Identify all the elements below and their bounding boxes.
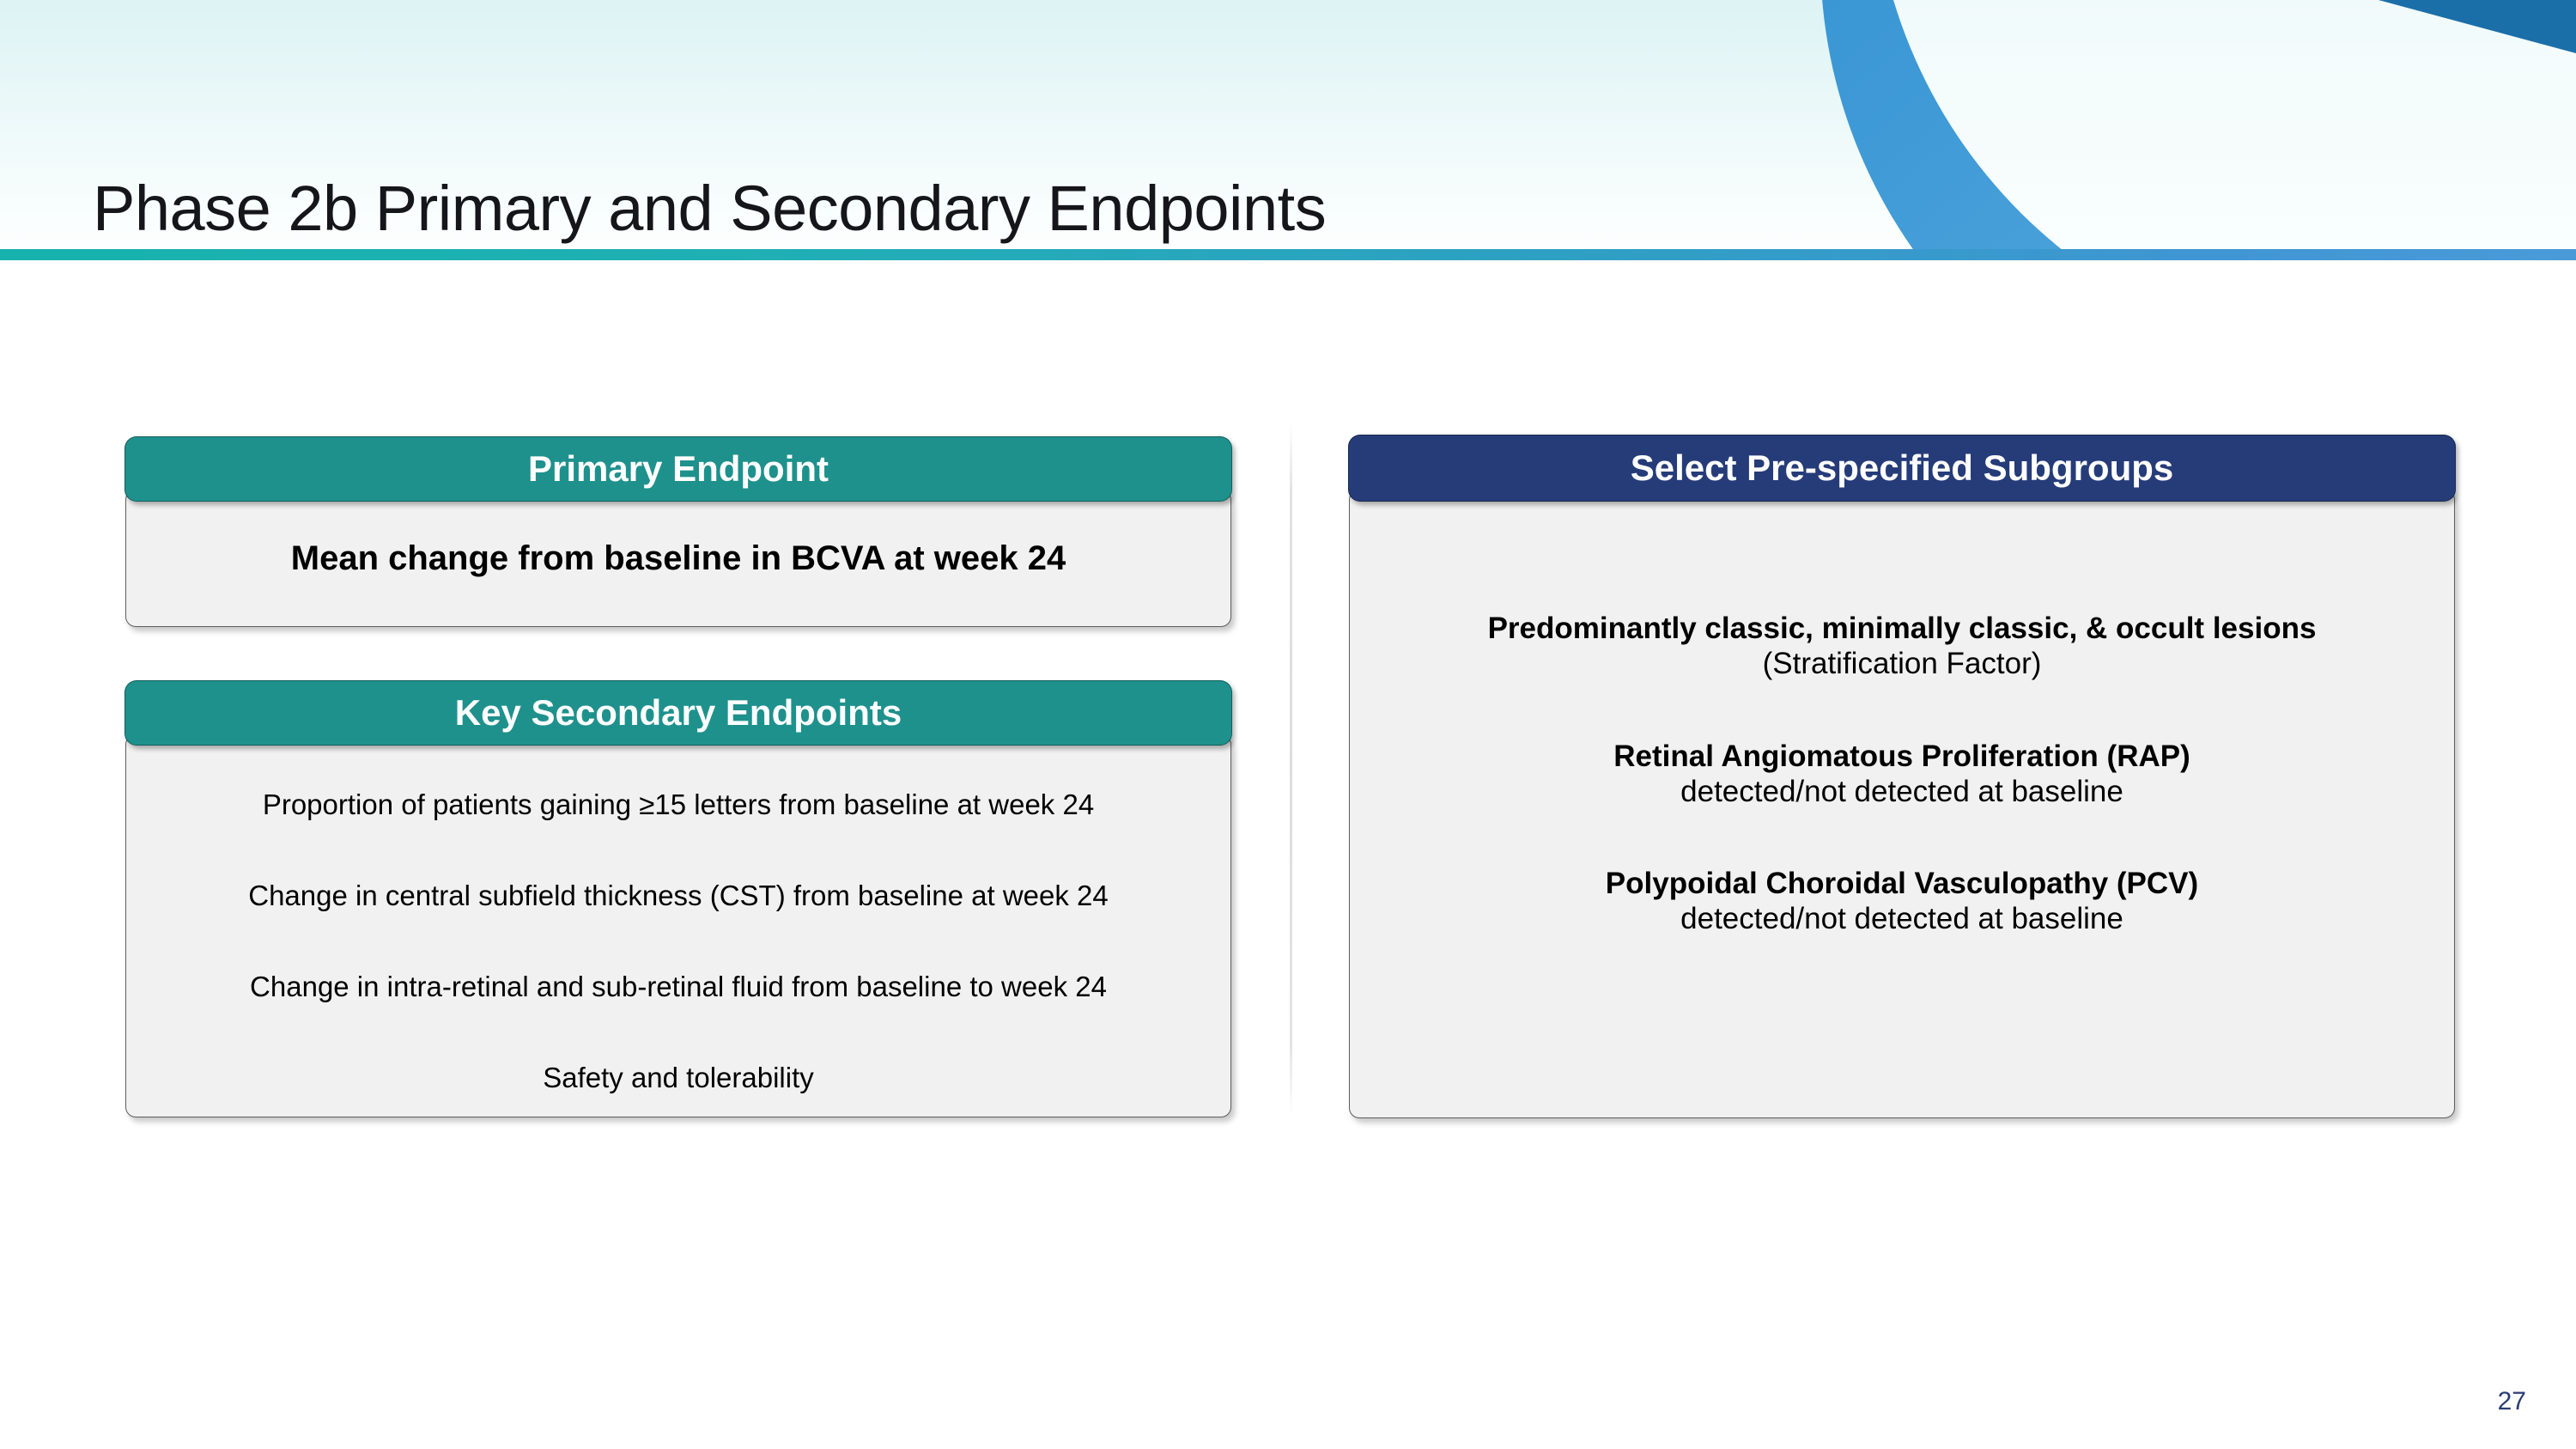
primary-endpoint-body: Mean change from baseline in BCVA at wee…	[125, 490, 1231, 627]
list-item: Proportion of patients gaining ≥15 lette…	[263, 788, 1094, 821]
primary-endpoint-header: Primary Endpoint	[125, 436, 1232, 502]
list-item: Change in central subfield thickness (CS…	[248, 880, 1109, 912]
key-secondary-endpoints-header: Key Secondary Endpoints	[125, 680, 1232, 746]
subgroup-subtitle: detected/not detected at baseline	[1613, 774, 2190, 809]
subgroup-title: Polypoidal Choroidal Vasculopathy (PCV)	[1606, 866, 2198, 901]
column-divider	[1290, 423, 1292, 1117]
select-pre-specified-subgroups-header: Select Pre-specified Subgroups	[1348, 435, 2456, 502]
subgroup-item: Retinal Angiomatous Proliferation (RAP) …	[1613, 739, 2190, 810]
subgroup-title: Predominantly classic, minimally classic…	[1488, 611, 2317, 646]
key-secondary-endpoints-body: Proportion of patients gaining ≥15 lette…	[125, 734, 1231, 1117]
list-item: Safety and tolerability	[543, 1062, 814, 1094]
subgroup-item: Predominantly classic, minimally classic…	[1488, 611, 2317, 682]
subgroup-subtitle: detected/not detected at baseline	[1606, 901, 2198, 936]
page-title: Phase 2b Primary and Secondary Endpoints	[93, 172, 1326, 245]
slide-canvas: Phase 2b Primary and Secondary Endpoints…	[0, 0, 2576, 1449]
header-accent-rule	[0, 249, 2576, 260]
primary-endpoint-text: Mean change from baseline in BCVA at wee…	[291, 539, 1066, 578]
subgroup-item: Polypoidal Choroidal Vasculopathy (PCV) …	[1606, 866, 2198, 937]
page-number: 27	[2498, 1387, 2526, 1416]
select-pre-specified-subgroups-body: Predominantly classic, minimally classic…	[1349, 490, 2455, 1118]
subgroup-subtitle: (Stratification Factor)	[1488, 646, 2317, 681]
subgroup-title: Retinal Angiomatous Proliferation (RAP)	[1613, 739, 2190, 774]
list-item: Change in intra-retinal and sub-retinal …	[250, 971, 1107, 1003]
